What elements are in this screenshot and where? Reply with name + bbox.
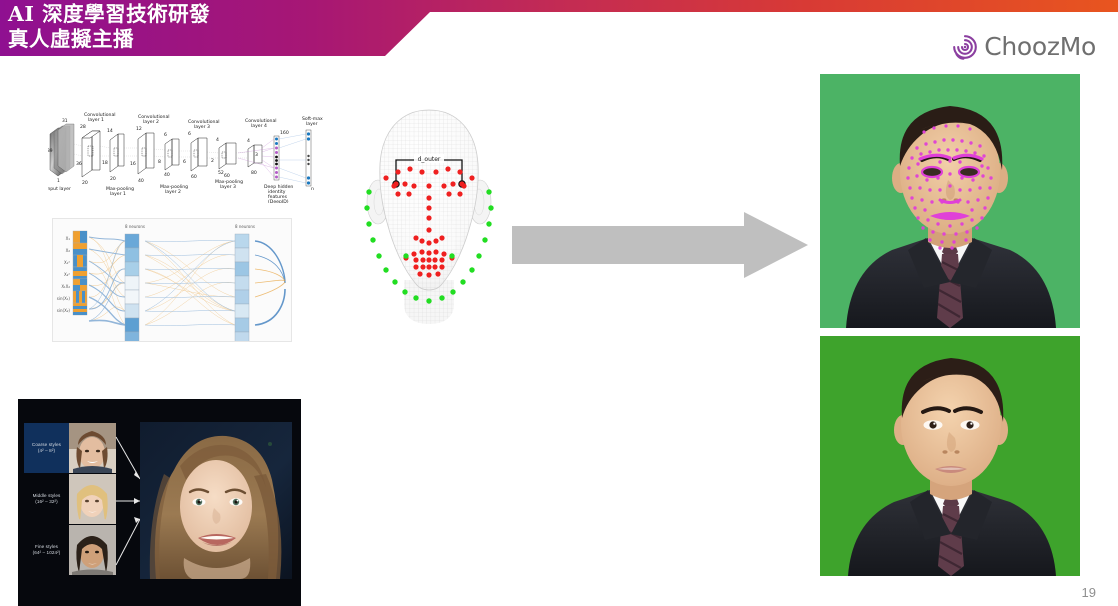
svg-text:X₂²: X₂² <box>64 272 70 277</box>
svg-text:1: 1 <box>57 178 60 184</box>
svg-text:18: 18 <box>102 160 108 166</box>
svg-text:(DeepID): (DeepID) <box>268 199 289 203</box>
svg-text:4: 4 <box>216 137 219 143</box>
slide: AI 深度學習技術研發 真人虛擬主播 ChoozMo <box>0 0 1118 606</box>
stylegan-label-coarse: Coarse styles (4² – 8²) <box>24 423 69 473</box>
svg-text:40: 40 <box>164 172 170 178</box>
spiral-swirl-icon <box>952 34 978 60</box>
stylegan-thumb-coarse <box>69 423 116 473</box>
hidden-layer-2-label: 8 neurons <box>235 224 255 229</box>
neural-network-figure: 8 neurons 8 neurons <box>52 218 292 342</box>
stylegan-source-column: Coarse styles (4² – 8²) <box>24 423 116 576</box>
svg-text:20: 20 <box>82 180 88 186</box>
logo-text: ChoozMo <box>984 32 1096 61</box>
svg-text:n: n <box>311 187 314 192</box>
svg-text:4: 4 <box>247 138 250 144</box>
stylegan-thumb-middle <box>69 474 116 524</box>
svg-text:X₁X₂: X₁X₂ <box>61 284 70 289</box>
stylegan-result-image <box>140 422 292 579</box>
svg-text:60: 60 <box>191 174 197 180</box>
svg-text:12: 12 <box>136 126 142 132</box>
svg-text:layer 3: layer 3 <box>220 184 236 190</box>
stylegan-row-middle: Middle styles (16² – 32²) <box>24 474 116 524</box>
svg-text:160: 160 <box>280 130 289 136</box>
hidden-layer-1-label: 8 neurons <box>125 224 145 229</box>
svg-text:14: 14 <box>107 128 113 134</box>
stylegan-row-coarse: Coarse styles (4² – 8²) <box>24 423 116 473</box>
stylegan-label-middle: Middle styles (16² – 32²) <box>24 474 69 524</box>
svg-text:sin(X₁): sin(X₁) <box>57 296 71 301</box>
brand-logo: ChoozMo <box>952 32 1096 61</box>
svg-text:layer 2: layer 2 <box>143 119 159 125</box>
svg-text:80: 80 <box>251 170 257 176</box>
svg-text:X₁²: X₁² <box>64 260 70 265</box>
d-outer-label: d_outer <box>418 156 441 163</box>
nn-input-nodes <box>73 231 87 315</box>
svg-text:6: 6 <box>183 159 186 165</box>
stylegan-figure: Coarse styles (4² – 8²) <box>18 399 301 606</box>
svg-text:60: 60 <box>224 173 230 179</box>
svg-text:layer 2: layer 2 <box>165 189 181 195</box>
svg-text:X₁: X₁ <box>66 236 71 241</box>
svg-text:X₂: X₂ <box>66 248 71 253</box>
stylegan-label-fine: Fine styles (64² – 1024²) <box>24 525 69 575</box>
svg-text:Input layer: Input layer <box>48 186 71 192</box>
stylegan-thumb-fine <box>69 525 116 575</box>
svg-text:layer: layer <box>306 121 318 127</box>
stylegan-row-fine: Fine styles (64² – 1024²) <box>24 525 116 575</box>
cnn-architecture-figure: 31 39 1 Input layer 283620 Convolutional… <box>48 108 333 203</box>
svg-text:layer 4: layer 4 <box>251 123 267 129</box>
svg-text:39: 39 <box>48 148 53 154</box>
svg-text:16: 16 <box>130 161 136 167</box>
process-arrow <box>512 212 808 278</box>
svg-text:6: 6 <box>188 131 191 137</box>
svg-text:6: 6 <box>164 132 167 138</box>
nn-hidden-layer-1 <box>125 234 139 342</box>
nn-hidden-layer-2 <box>235 234 249 342</box>
svg-text:2: 2 <box>211 158 214 164</box>
anchor-photo-rendered <box>820 336 1080 576</box>
svg-text:20: 20 <box>110 176 116 182</box>
svg-text:3: 3 <box>255 152 258 158</box>
svg-text:40: 40 <box>138 178 144 184</box>
svg-text:28: 28 <box>80 124 86 130</box>
face-mesh-figure: d_outer <box>334 98 524 330</box>
svg-text:layer 1: layer 1 <box>110 191 126 197</box>
svg-text:31: 31 <box>62 118 68 124</box>
svg-text:layer 3: layer 3 <box>194 124 210 130</box>
svg-text:sin(X₂): sin(X₂) <box>57 308 71 313</box>
svg-text:36: 36 <box>76 161 82 167</box>
slide-number: 19 <box>1082 585 1096 600</box>
page-title: AI 深度學習技術研發 真人虛擬主播 <box>8 2 210 52</box>
svg-text:8: 8 <box>158 159 161 165</box>
anchor-photo-with-landmarks <box>820 74 1080 328</box>
svg-text:layer 1: layer 1 <box>88 117 104 123</box>
